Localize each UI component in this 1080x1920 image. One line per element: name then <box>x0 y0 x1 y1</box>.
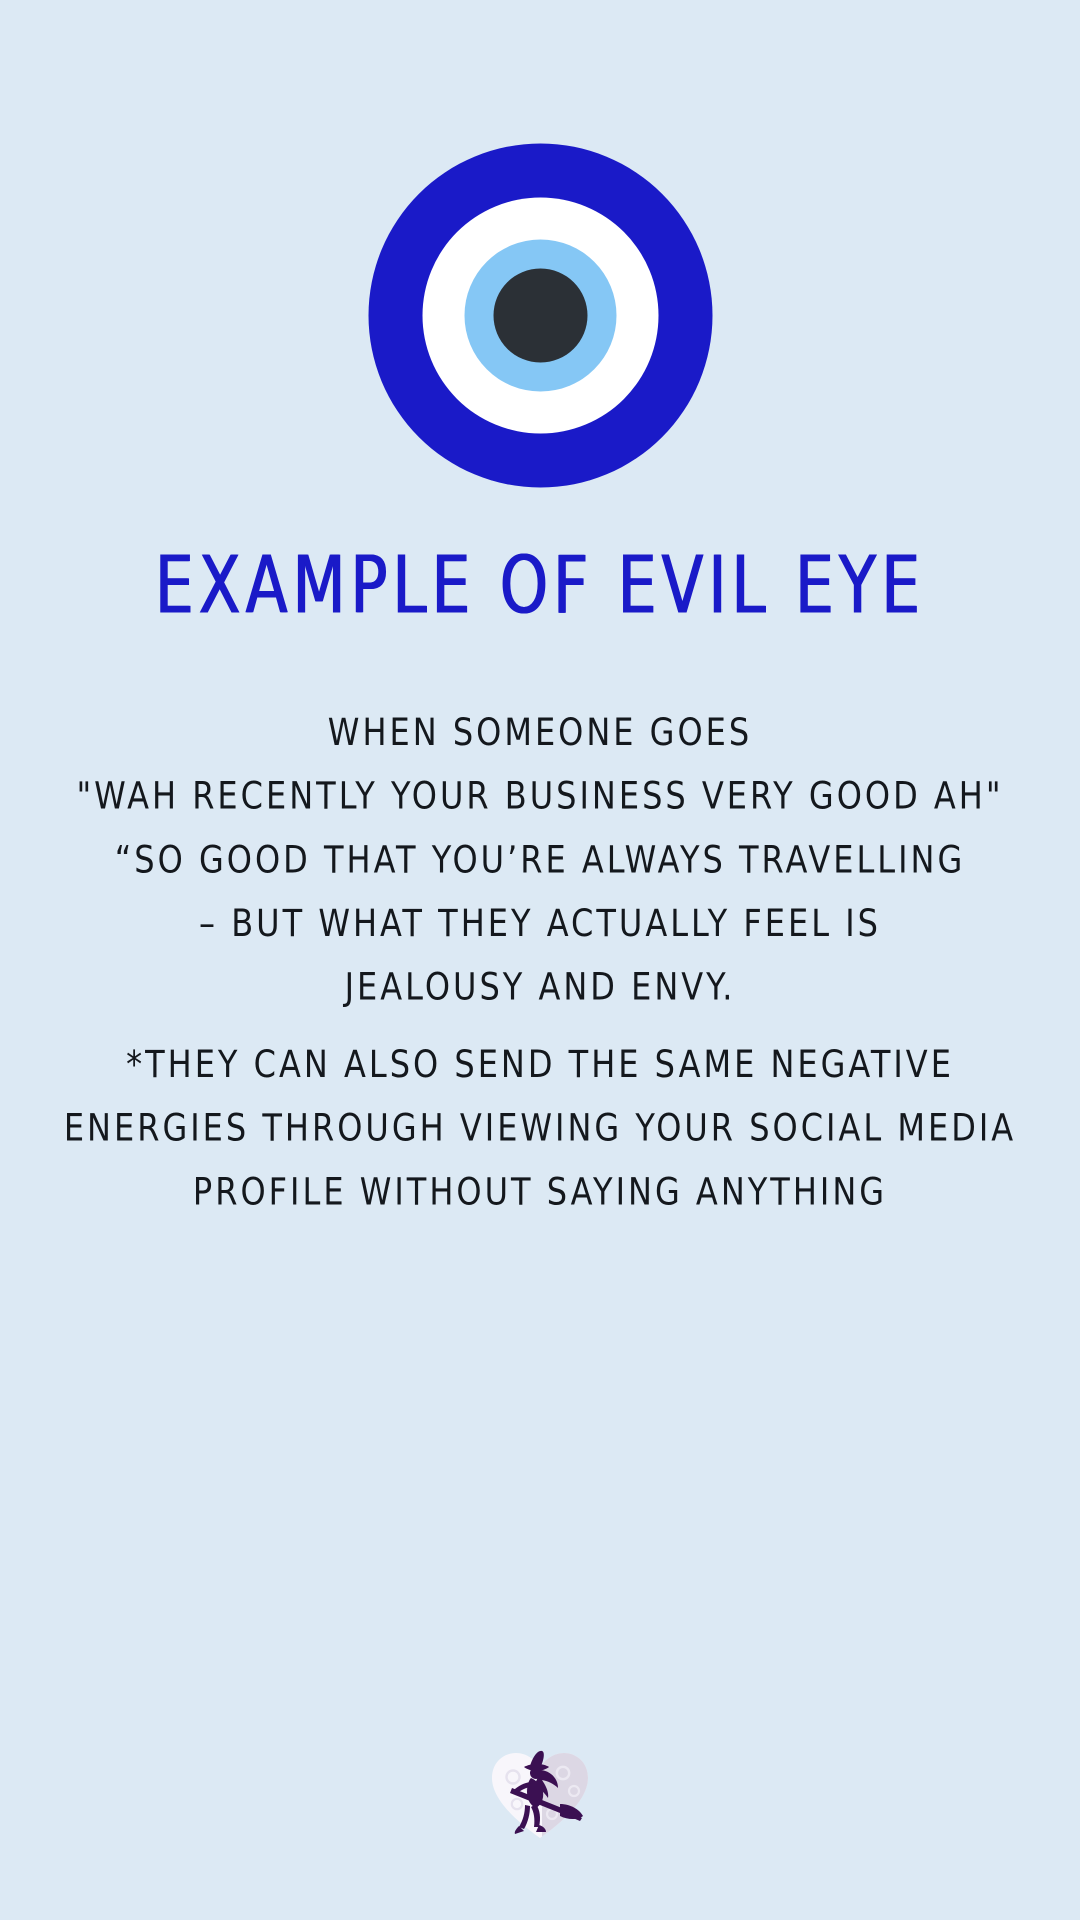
note-line-2: ENERGIES THROUGH VIEWING YOUR SOCIAL MED… <box>40 1096 1040 1160</box>
evil-eye-graphic <box>368 143 713 488</box>
paragraph-quote: WHEN SOMEONE GOES "WAH RECENTLY YOUR BUS… <box>40 700 1040 1019</box>
note-line-3: PROFILE WITHOUT SAYING ANYTHING <box>40 1159 1040 1223</box>
brand-logo <box>486 1742 594 1850</box>
paragraph-note: *THEY CAN ALSO SEND THE SAME NEGATIVE EN… <box>40 1032 1040 1223</box>
page-title: EXAMPLE OF EVIL EYE <box>155 546 925 625</box>
body-text-block: WHEN SOMEONE GOES "WAH RECENTLY YOUR BUS… <box>40 700 1040 1194</box>
poster-canvas: EXAMPLE OF EVIL EYE WHEN SOMEONE GOES "W… <box>0 0 1080 1920</box>
quote-line-3: “SO GOOD THAT YOU’RE ALWAYS TRAVELLING <box>40 827 1040 891</box>
note-line-1: *THEY CAN ALSO SEND THE SAME NEGATIVE <box>40 1032 1040 1096</box>
quote-line-1: WHEN SOMEONE GOES <box>40 700 1040 764</box>
moon-shadow <box>542 1742 594 1850</box>
quote-line-5: JEALOUSY AND ENVY. <box>40 955 1040 1019</box>
quote-line-4: – BUT WHAT THEY ACTUALLY FEEL IS <box>40 891 1040 955</box>
quote-line-2: "WAH RECENTLY YOUR BUSINESS VERY GOOD AH… <box>40 764 1040 828</box>
evil-eye-pupil <box>493 269 587 363</box>
